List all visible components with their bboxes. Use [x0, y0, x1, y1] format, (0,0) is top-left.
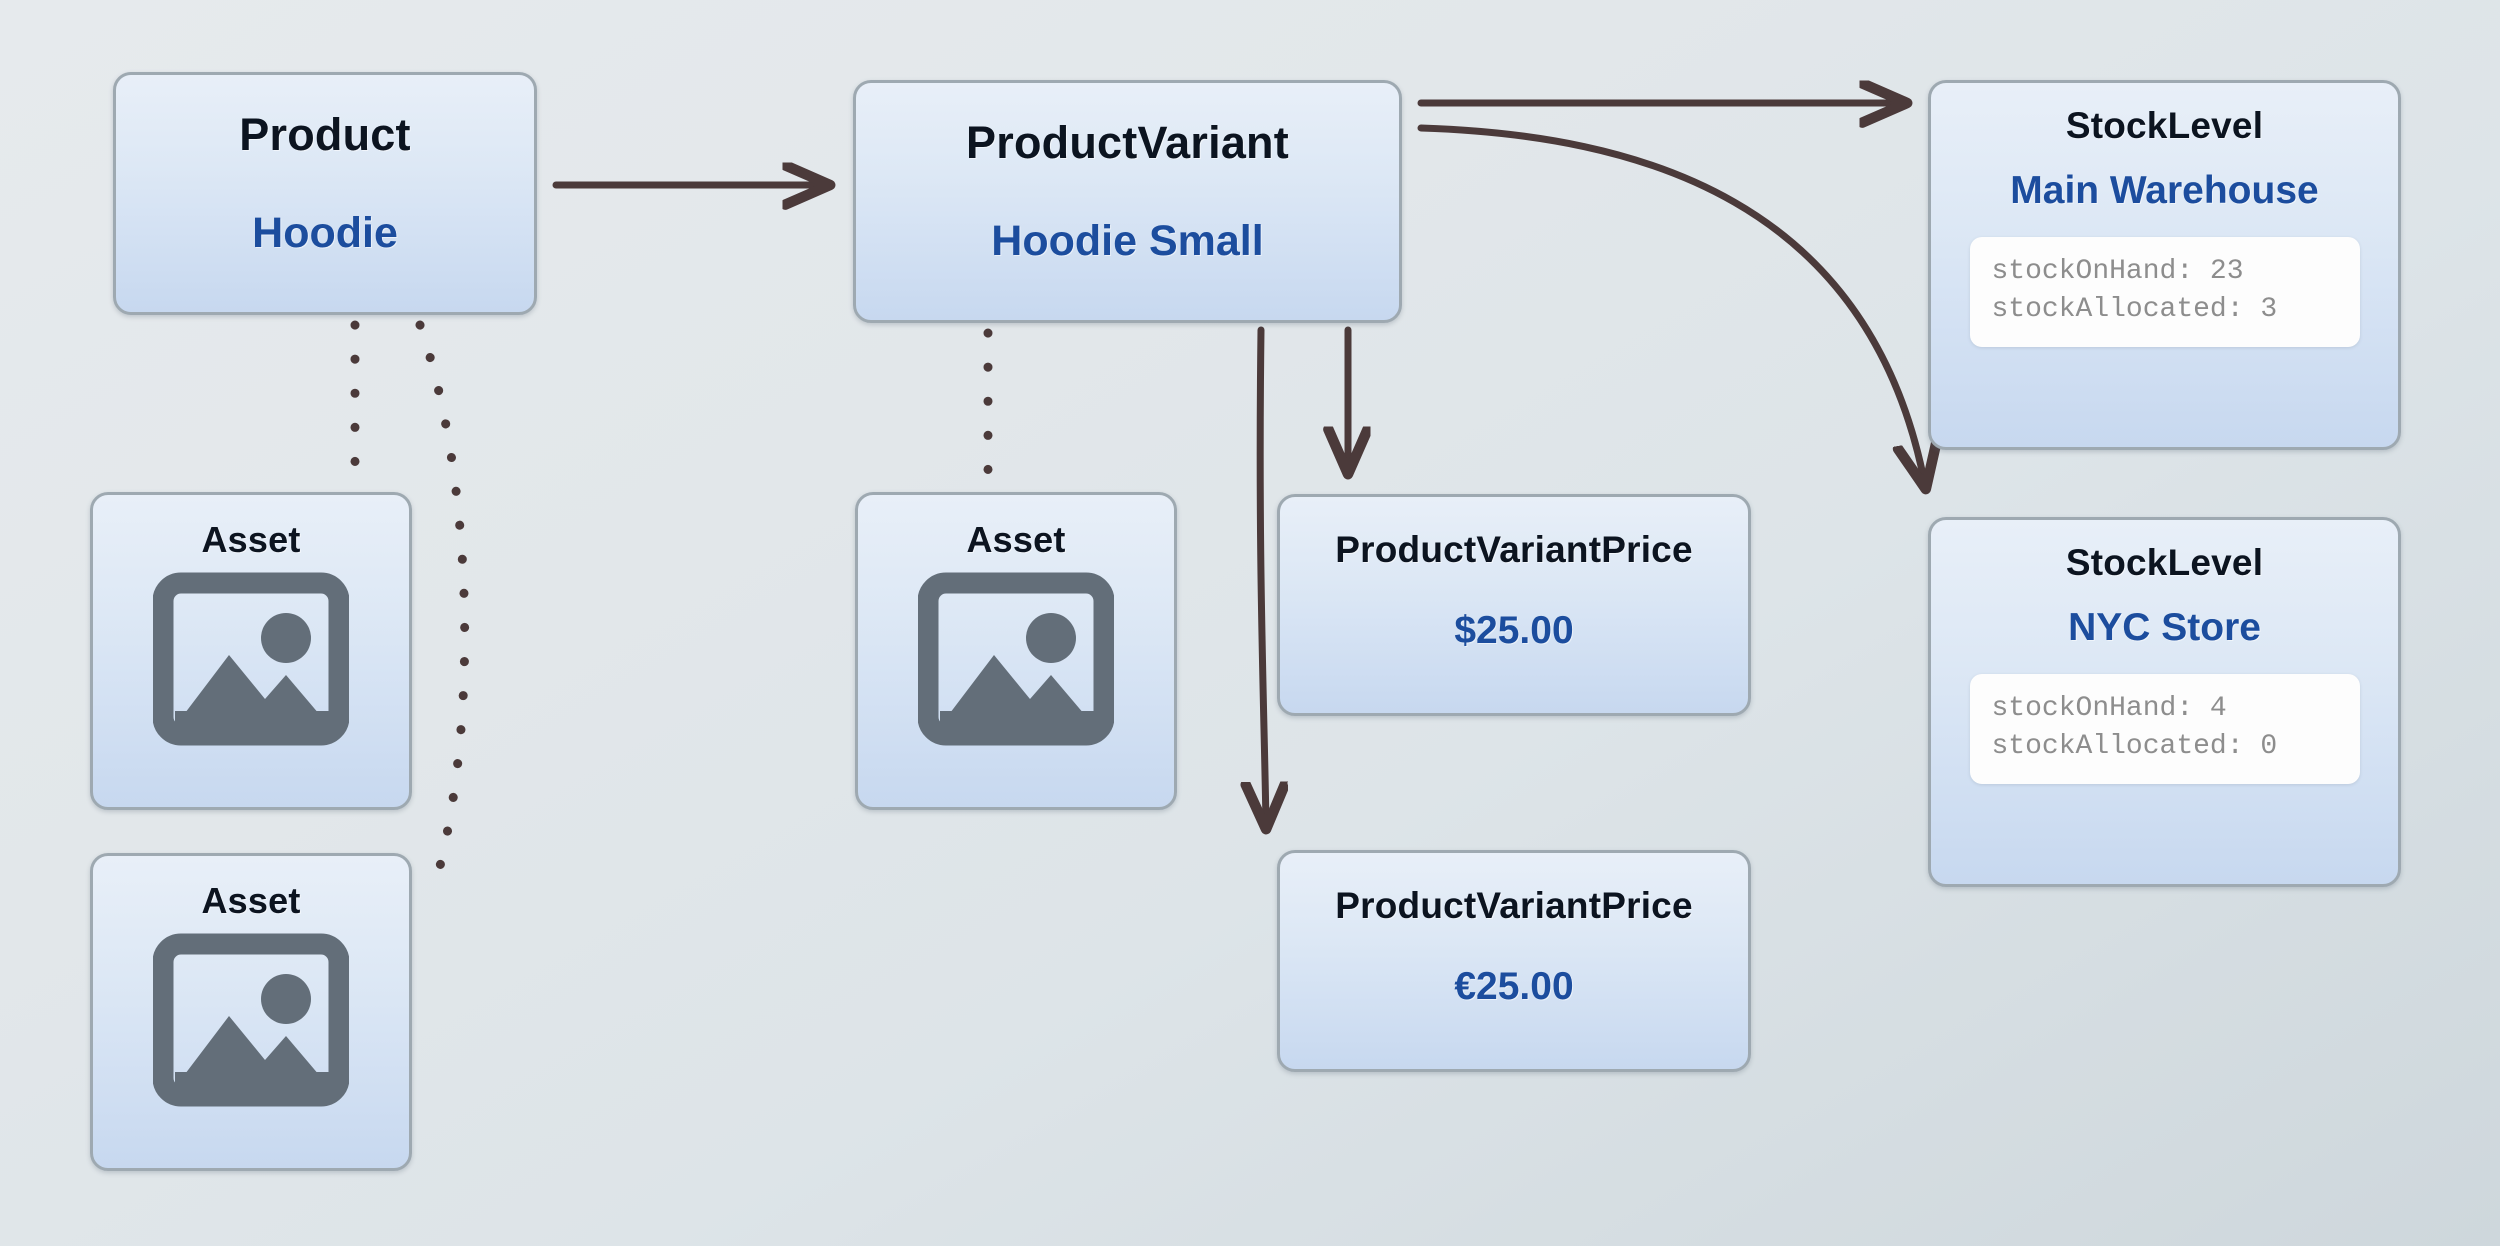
stock-field-allocated: stockAllocated: 0	[1992, 728, 2340, 766]
stock-field-allocated: stockAllocated: 3	[1992, 291, 2340, 329]
node-product-name: Hoodie	[252, 209, 398, 258]
node-stock-main[interactable]: StockLevel Main Warehouse stockOnHand: 2…	[1928, 80, 2401, 450]
node-asset-variant-1-type: Asset	[966, 519, 1065, 561]
diagram-canvas: Product Hoodie ProductVariant Hoodie Sma…	[0, 0, 2500, 1246]
node-price-eur[interactable]: ProductVariantPrice €25.00	[1277, 850, 1751, 1072]
node-stock-nyc-type: StockLevel	[2066, 542, 2263, 584]
node-price-usd-type: ProductVariantPrice	[1335, 529, 1693, 571]
node-stock-main-name: Main Warehouse	[2010, 169, 2318, 213]
stock-field-on-hand: stockOnHand: 23	[1992, 253, 2340, 291]
node-stock-nyc-name: NYC Store	[2068, 606, 2261, 650]
node-asset-product-1[interactable]: Asset	[90, 492, 412, 810]
node-product-type: Product	[239, 109, 410, 161]
node-price-usd[interactable]: ProductVariantPrice $25.00	[1277, 494, 1751, 716]
edge-product-to-asset-2	[420, 325, 465, 866]
node-stock-nyc-fields: stockOnHand: 4 stockAllocated: 0	[1970, 674, 2360, 784]
node-asset-variant-1[interactable]: Asset	[855, 492, 1177, 810]
node-product-variant-name: Hoodie Small	[991, 217, 1263, 266]
edge-variant-to-price-eur	[1260, 330, 1266, 825]
node-price-eur-value: €25.00	[1454, 965, 1573, 1009]
image-icon	[153, 932, 349, 1113]
node-asset-product-2-type: Asset	[201, 880, 300, 922]
image-icon	[918, 571, 1114, 752]
image-icon	[153, 571, 349, 752]
edge-variant-to-stock-nyc	[1421, 128, 1925, 485]
node-asset-product-2[interactable]: Asset	[90, 853, 412, 1171]
node-stock-nyc[interactable]: StockLevel NYC Store stockOnHand: 4 stoc…	[1928, 517, 2401, 887]
node-stock-main-type: StockLevel	[2066, 105, 2263, 147]
node-product[interactable]: Product Hoodie	[113, 72, 537, 315]
node-product-variant[interactable]: ProductVariant Hoodie Small	[853, 80, 1402, 323]
node-stock-main-fields: stockOnHand: 23 stockAllocated: 3	[1970, 237, 2360, 347]
node-asset-product-1-type: Asset	[201, 519, 300, 561]
node-price-usd-value: $25.00	[1454, 609, 1573, 653]
node-product-variant-type: ProductVariant	[966, 117, 1289, 169]
stock-field-on-hand: stockOnHand: 4	[1992, 690, 2340, 728]
node-price-eur-type: ProductVariantPrice	[1335, 885, 1693, 927]
